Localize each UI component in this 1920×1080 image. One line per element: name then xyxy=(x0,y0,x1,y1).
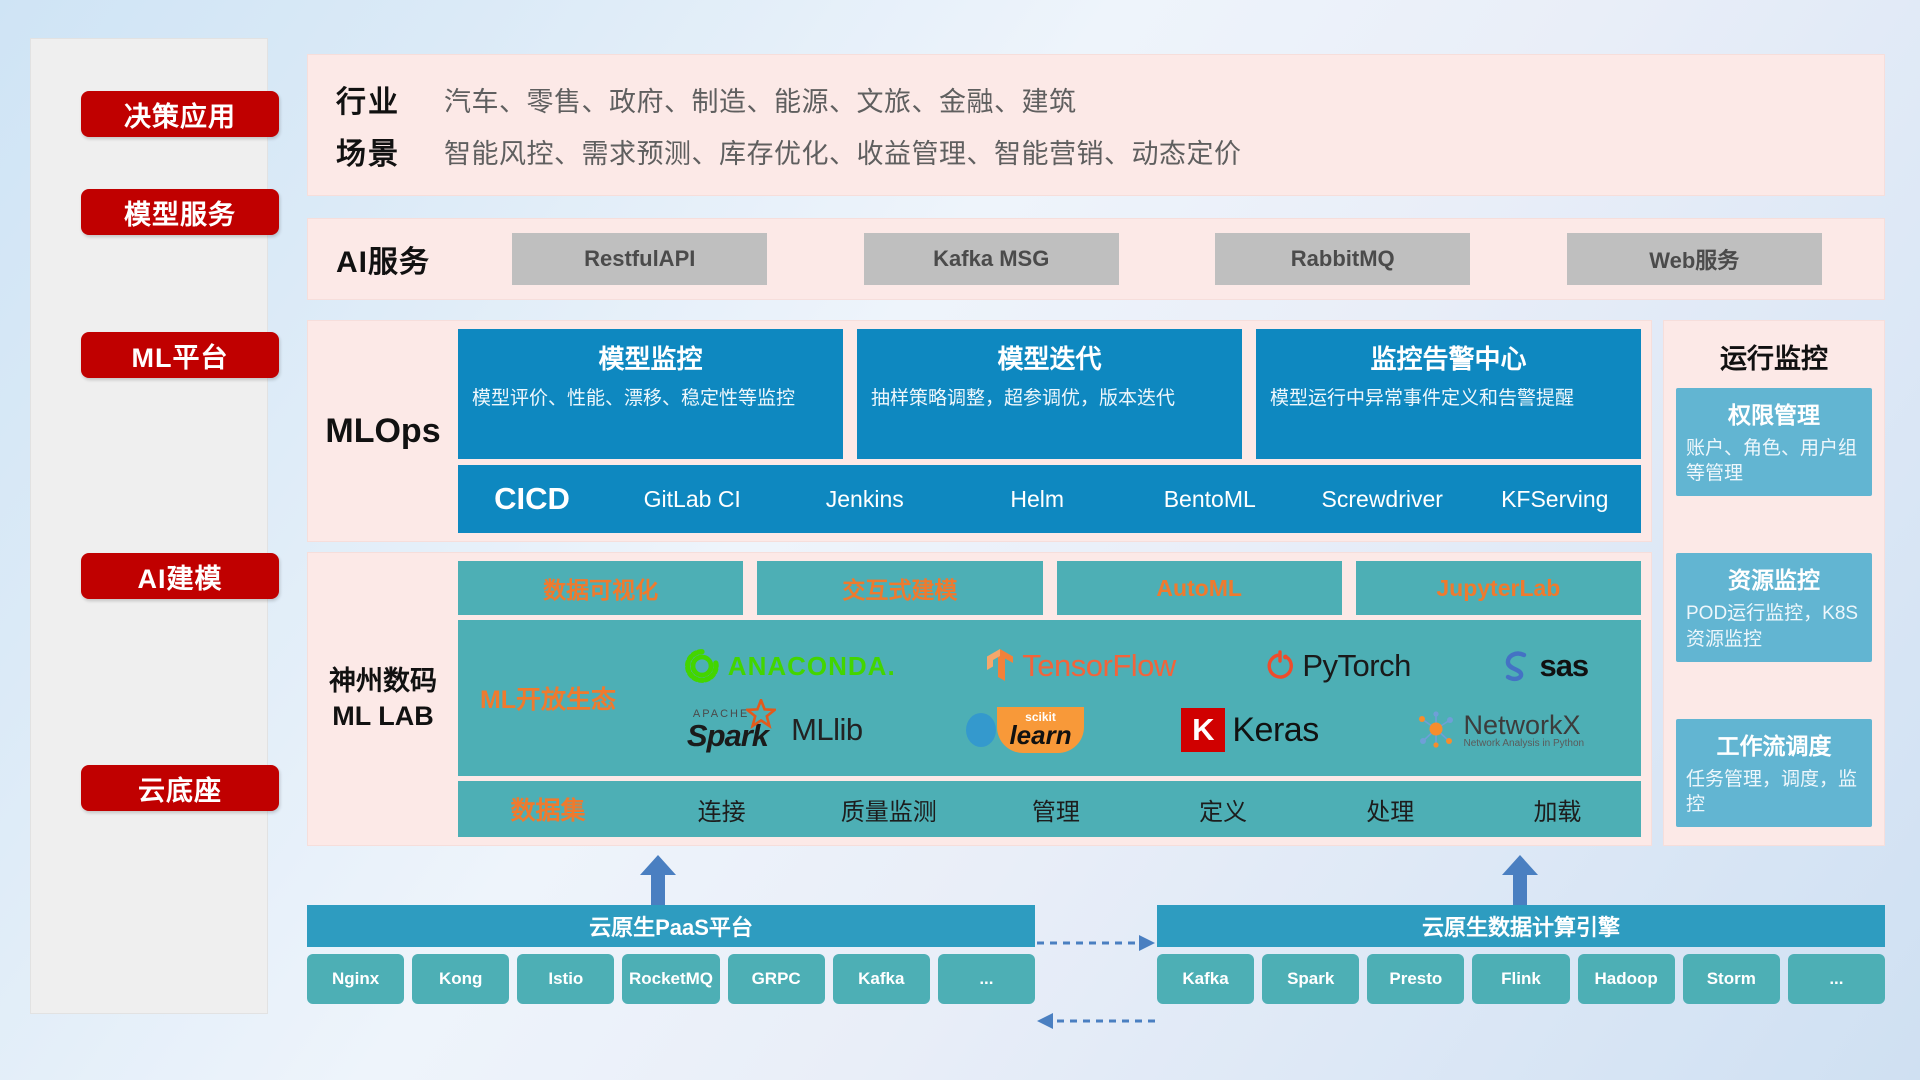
anaconda-wordmark: ANACONDA. xyxy=(728,651,896,682)
ai-service-buttons: RestfulAPI Kafka MSG RabbitMQ Web服务 xyxy=(430,233,1884,285)
ml-lab-label-line1: 神州数码 xyxy=(329,664,437,699)
cicd-label: CICD xyxy=(458,481,606,517)
scenario-values: 智能风控、需求预测、库存优化、收益管理、智能营销、动态定价 xyxy=(444,132,1242,171)
cicd-item-jenkins[interactable]: Jenkins xyxy=(779,486,952,512)
ml-lab-tools: 数据可视化 交互式建模 AutoML JupyterLab xyxy=(458,561,1641,615)
pytorch-icon xyxy=(1265,648,1295,684)
dataset-item-load[interactable]: 加载 xyxy=(1474,792,1641,827)
monitor-card-resource[interactable]: 资源监控 POD运行监控，K8S资源监控 xyxy=(1676,553,1872,661)
ai-service-band: AI服务 RestfulAPI Kafka MSG RabbitMQ Web服务 xyxy=(307,218,1885,300)
cloud-data-title: 云原生数据计算引擎 xyxy=(1157,905,1885,947)
rail-tag-model-service[interactable]: 模型服务 xyxy=(81,189,279,235)
ai-button-restfulapi[interactable]: RestfulAPI xyxy=(512,233,767,285)
industry-values: 汽车、零售、政府、制造、能源、文旅、金融、建筑 xyxy=(444,80,1077,119)
learn-text: learn xyxy=(1009,724,1071,746)
scikit-orange-blob: scikit learn xyxy=(997,707,1083,752)
mlops-label: MLOps xyxy=(308,321,458,541)
dataset-item-process[interactable]: 处理 xyxy=(1307,792,1474,827)
scikit-learn-logo: scikit learn xyxy=(960,707,1083,752)
paas-chip-more[interactable]: ... xyxy=(938,954,1035,1004)
tool-interactive-modeling[interactable]: 交互式建模 xyxy=(757,561,1042,615)
mlops-card-alert-center[interactable]: 监控告警中心 模型运行中异常事件定义和告警提醒 xyxy=(1256,329,1641,459)
tensorflow-logo: TensorFlow xyxy=(985,647,1176,685)
paas-chip-kong[interactable]: Kong xyxy=(412,954,509,1004)
card-title: 权限管理 xyxy=(1686,396,1862,430)
ml-lab-band: 神州数码 ML LAB 数据可视化 交互式建模 AutoML JupyterLa… xyxy=(307,552,1652,846)
data-chip-presto[interactable]: Presto xyxy=(1367,954,1464,1004)
ai-button-kafka-msg[interactable]: Kafka MSG xyxy=(864,233,1119,285)
data-chip-kafka[interactable]: Kafka xyxy=(1157,954,1254,1004)
card-desc: POD运行监控，K8S资源监控 xyxy=(1686,601,1862,651)
ml-open-ecosystem: ML开放生态 ANACONDA. xyxy=(458,620,1641,776)
keras-mark-icon: K xyxy=(1181,708,1225,752)
sas-logo: sas xyxy=(1500,648,1588,684)
dataset-item-quality[interactable]: 质量监测 xyxy=(805,792,972,827)
spark-star-icon xyxy=(746,699,776,729)
tool-jupyterlab[interactable]: JupyterLab xyxy=(1356,561,1641,615)
data-chip-spark[interactable]: Spark xyxy=(1262,954,1359,1004)
card-desc: 任务管理，调度，监控 xyxy=(1686,767,1862,817)
monitor-card-permission[interactable]: 权限管理 账户、角色、用户组等管理 xyxy=(1676,388,1872,496)
mlops-card-model-iteration[interactable]: 模型迭代 抽样策略调整，超参调优，版本迭代 xyxy=(857,329,1242,459)
paas-chip-istio[interactable]: Istio xyxy=(517,954,614,1004)
card-title: 模型迭代 xyxy=(871,339,1228,376)
decision-application-band: 行业 汽车、零售、政府、制造、能源、文旅、金融、建筑 场景 智能风控、需求预测、… xyxy=(307,54,1885,196)
bidirectional-link-arrows-icon xyxy=(1035,925,1157,1035)
cloud-paas-title: 云原生PaaS平台 xyxy=(307,905,1035,947)
runtime-monitoring-title: 运行监控 xyxy=(1676,337,1872,376)
dataset-item-define[interactable]: 定义 xyxy=(1140,792,1307,827)
paas-chip-rocketmq[interactable]: RocketMQ xyxy=(622,954,719,1004)
mlops-card-model-monitoring[interactable]: 模型监控 模型评价、性能、漂移、稳定性等监控 xyxy=(458,329,843,459)
data-chip-flink[interactable]: Flink xyxy=(1472,954,1569,1004)
dataset-row: 数据集 连接 质量监测 管理 定义 处理 加载 xyxy=(458,781,1641,837)
tensorflow-wordmark: TensorFlow xyxy=(1022,648,1176,684)
card-title: 监控告警中心 xyxy=(1270,339,1627,376)
mlops-band: MLOps 模型监控 模型评价、性能、漂移、稳定性等监控 模型迭代 抽样策略调整… xyxy=(307,320,1652,542)
ai-service-label: AI服务 xyxy=(336,237,430,281)
ai-button-web-service[interactable]: Web服务 xyxy=(1567,233,1822,285)
tool-data-visualization[interactable]: 数据可视化 xyxy=(458,561,743,615)
industry-row: 行业 汽车、零售、政府、制造、能源、文旅、金融、建筑 xyxy=(336,73,1884,125)
data-chip-storm[interactable]: Storm xyxy=(1683,954,1780,1004)
scenario-row: 场景 智能风控、需求预测、库存优化、收益管理、智能营销、动态定价 xyxy=(336,125,1884,177)
paas-chip-kafka[interactable]: Kafka xyxy=(833,954,930,1004)
cloud-data-engine-group: 云原生数据计算引擎 Kafka Spark Presto Flink Hadoo… xyxy=(1157,905,1885,1004)
arrow-up-data-engine-icon xyxy=(1502,855,1538,907)
networkx-tagline: Network Analysis in Python xyxy=(1463,739,1584,749)
ai-button-rabbitmq[interactable]: RabbitMQ xyxy=(1215,233,1470,285)
runtime-monitoring-panel: 运行监控 权限管理 账户、角色、用户组等管理 资源监控 POD运行监控，K8S资… xyxy=(1663,320,1885,846)
architecture-diagram: 决策应用 模型服务 ML平台 AI建模 云底座 行业 汽车、零售、政府、制造、能… xyxy=(0,0,1920,1080)
networkx-wordmark: NetworkX xyxy=(1463,712,1584,739)
arrow-up-paas-icon xyxy=(640,855,676,907)
cicd-item-screwdriver[interactable]: Screwdriver xyxy=(1296,486,1469,512)
anaconda-logo: ANACONDA. xyxy=(683,647,896,685)
tensorflow-icon xyxy=(985,647,1015,685)
card-title: 工作流调度 xyxy=(1686,727,1862,761)
sas-wordmark: sas xyxy=(1539,648,1588,684)
card-desc: 抽样策略调整，超参调优，版本迭代 xyxy=(871,386,1228,412)
paas-chip-grpc[interactable]: GRPC xyxy=(728,954,825,1004)
scenario-label: 场景 xyxy=(336,129,444,173)
pytorch-logo: PyTorch xyxy=(1265,648,1410,684)
dataset-item-manage[interactable]: 管理 xyxy=(972,792,1139,827)
mllib-wordmark: MLlib xyxy=(791,712,863,748)
ml-lab-label: 神州数码 ML LAB xyxy=(308,553,458,845)
cicd-item-kfserving[interactable]: KFServing xyxy=(1469,486,1642,512)
card-title: 资源监控 xyxy=(1686,561,1862,595)
spark-mllib-logo: APACHE Spark MLlib xyxy=(687,709,863,751)
anaconda-icon xyxy=(683,647,721,685)
cicd-item-gitlab-ci[interactable]: GitLab CI xyxy=(606,486,779,512)
keras-wordmark: Keras xyxy=(1232,711,1318,750)
logo-row-2: APACHE Spark MLlib xyxy=(638,699,1633,761)
paas-chip-nginx[interactable]: Nginx xyxy=(307,954,404,1004)
card-desc: 模型运行中异常事件定义和告警提醒 xyxy=(1270,386,1627,412)
card-title: 模型监控 xyxy=(472,339,829,376)
rail-tag-ai-modeling[interactable]: AI建模 xyxy=(81,553,279,599)
networkx-graph-icon xyxy=(1416,711,1456,749)
card-desc: 账户、角色、用户组等管理 xyxy=(1686,436,1862,486)
rail-tag-ml-platform[interactable]: ML平台 xyxy=(81,332,279,378)
dataset-label: 数据集 xyxy=(458,791,638,827)
rail-tag-cloud-base[interactable]: 云底座 xyxy=(81,765,279,811)
ml-open-ecosystem-label: ML开放生态 xyxy=(458,680,638,716)
card-desc: 模型评价、性能、漂移、稳定性等监控 xyxy=(472,386,829,412)
sas-swirl-icon xyxy=(1500,648,1532,684)
tool-automl[interactable]: AutoML xyxy=(1057,561,1342,615)
industry-label: 行业 xyxy=(336,77,444,121)
dataset-item-connect[interactable]: 连接 xyxy=(638,792,805,827)
scikit-blue-blob-icon xyxy=(960,709,1002,751)
pytorch-wordmark: PyTorch xyxy=(1302,648,1410,684)
ml-lab-label-line2: ML LAB xyxy=(332,699,434,734)
cicd-row: CICD GitLab CI Jenkins Helm BentoML Scre… xyxy=(458,465,1641,533)
rail-tag-decision[interactable]: 决策应用 xyxy=(81,91,279,137)
keras-logo: K Keras xyxy=(1181,708,1318,752)
cicd-item-bentoml[interactable]: BentoML xyxy=(1124,486,1297,512)
logo-row-1: ANACONDA. TensorFlow xyxy=(638,635,1633,697)
data-chip-more[interactable]: ... xyxy=(1788,954,1885,1004)
data-chip-hadoop[interactable]: Hadoop xyxy=(1578,954,1675,1004)
layer-rail: 决策应用 模型服务 ML平台 AI建模 云底座 xyxy=(30,38,268,1014)
networkx-logo: NetworkX Network Analysis in Python xyxy=(1416,711,1584,749)
cloud-paas-group: 云原生PaaS平台 Nginx Kong Istio RocketMQ GRPC… xyxy=(307,905,1035,1004)
monitor-card-workflow[interactable]: 工作流调度 任务管理，调度，监控 xyxy=(1676,719,1872,827)
cicd-item-helm[interactable]: Helm xyxy=(951,486,1124,512)
